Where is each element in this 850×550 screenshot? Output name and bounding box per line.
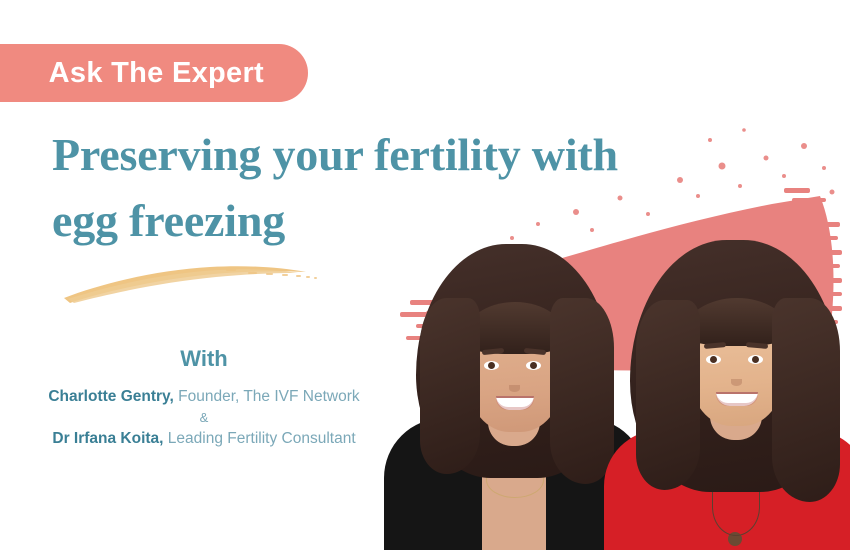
presenters-photo (380, 0, 850, 550)
left-presenter-hair-strand-left (420, 298, 480, 474)
credit-person-1: Charlotte Gentry, Founder, The IVF Netwo… (48, 386, 360, 408)
credits-with-label: With (48, 344, 360, 374)
credit-person-2-name: Dr Irfana Koita, (52, 430, 163, 447)
credit-person-2: Dr Irfana Koita, Leading Fertility Consu… (48, 428, 360, 450)
badge-label: Ask The Expert (49, 57, 264, 90)
credit-person-1-role: Founder, The IVF Network (178, 388, 360, 405)
credit-person-1-name: Charlotte Gentry, (48, 388, 173, 405)
left-presenter-hair-strand-right (550, 298, 614, 484)
gold-brush-underline-icon (60, 258, 320, 306)
left-presenter-eye-left (484, 361, 499, 370)
ask-the-expert-badge: Ask The Expert (0, 44, 308, 102)
credits-block: With Charlotte Gentry, Founder, The IVF … (48, 344, 360, 450)
right-presenter-eye-left (706, 355, 721, 364)
left-presenter-eye-right (526, 361, 541, 370)
ask-the-expert-promo-card: Ask The Expert Preserving your fertility… (0, 0, 850, 550)
credits-ampersand: & (48, 408, 360, 428)
right-presenter-nose (731, 379, 742, 386)
credit-person-2-role: Leading Fertility Consultant (168, 430, 356, 447)
left-presenter (390, 250, 640, 550)
right-presenter-hair-strand-left (636, 300, 700, 490)
right-presenter-eye-right (748, 355, 763, 364)
left-presenter-nose (509, 385, 520, 392)
right-presenter (608, 230, 850, 550)
right-presenter-hair-strand-right (772, 298, 840, 502)
